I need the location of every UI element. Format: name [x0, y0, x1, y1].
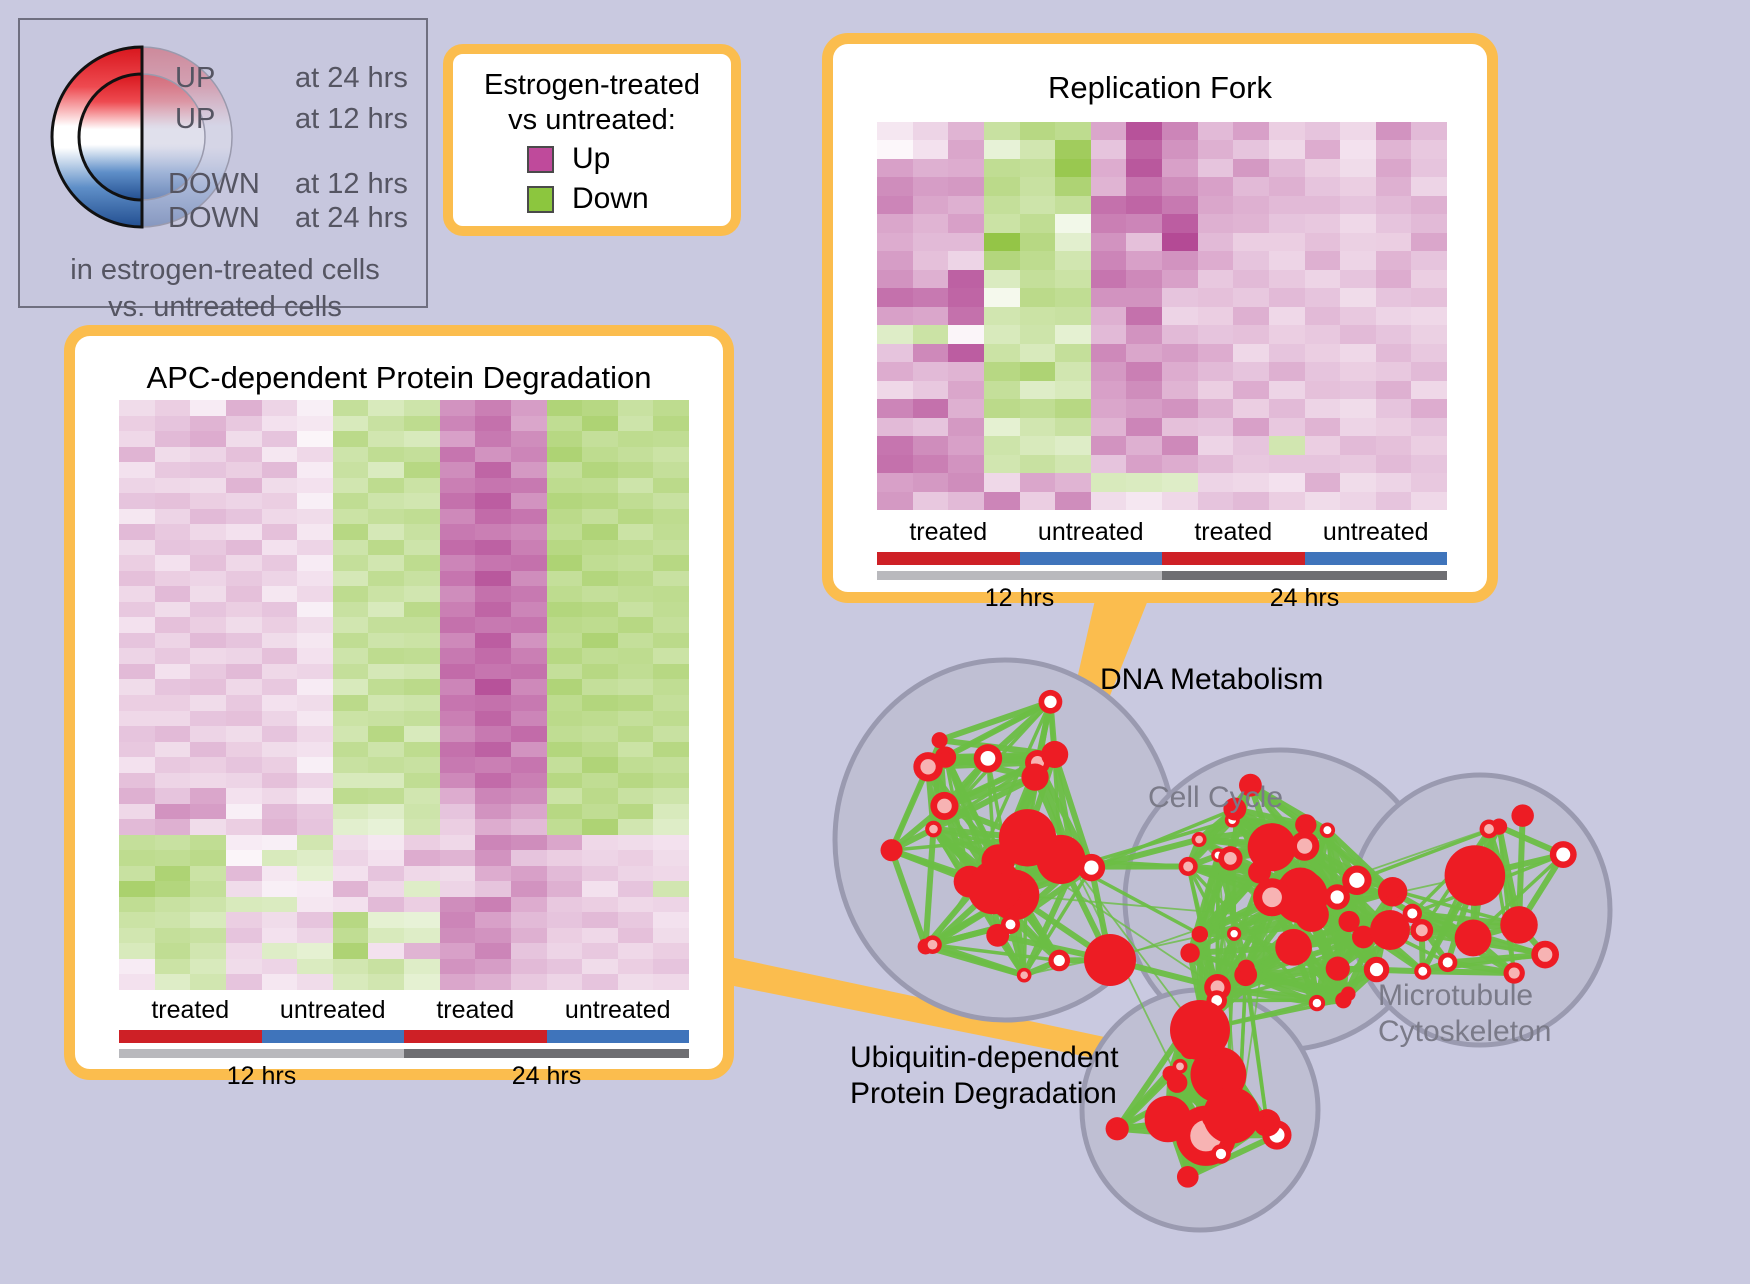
group-label: treated	[877, 518, 1020, 547]
heatmap-cell	[475, 416, 511, 432]
heatmap-cell	[190, 726, 226, 742]
heatmap-cell	[119, 943, 155, 959]
heatmap-cell	[368, 586, 404, 602]
heatmap-cell	[440, 400, 476, 416]
network-node[interactable]	[1203, 1087, 1260, 1144]
network-node[interactable]	[1438, 953, 1457, 972]
heatmap-cell	[1376, 140, 1412, 158]
heatmap-cell	[547, 431, 583, 447]
network-node[interactable]	[1036, 835, 1085, 884]
heatmap-cell	[1198, 381, 1234, 399]
heatmap-cell	[653, 586, 689, 602]
heatmap-cell	[547, 695, 583, 711]
network-node[interactable]	[1163, 1066, 1179, 1082]
heatmap-cell	[511, 742, 547, 758]
node-core	[1500, 906, 1538, 944]
network-node[interactable]	[1211, 1144, 1231, 1164]
heatmap-cell	[155, 400, 191, 416]
heatmap-cell	[404, 897, 440, 913]
heatmap-cell	[368, 866, 404, 882]
network-node[interactable]	[1048, 950, 1070, 972]
heatmap-cell	[511, 648, 547, 664]
heatmap-cell	[1020, 214, 1056, 232]
heatmap-cell	[404, 788, 440, 804]
network-node[interactable]	[913, 752, 942, 781]
heatmap-cell	[297, 881, 333, 897]
heatmap-cell	[984, 418, 1020, 436]
heatmap-cell	[368, 540, 404, 556]
color-key-title: Estrogen-treated vs untreated:	[453, 68, 731, 138]
heatmap-cell	[877, 381, 913, 399]
heatmap-cell	[618, 555, 654, 571]
heatmap-cell	[440, 943, 476, 959]
heatmap-cell	[582, 524, 618, 540]
heatmap-cell	[582, 819, 618, 835]
heatmap-cell	[404, 602, 440, 618]
heatmap-cell	[1126, 288, 1162, 306]
heatmap-cell	[1162, 140, 1198, 158]
heatmap-cell	[1055, 214, 1091, 232]
heatmap-cell	[190, 897, 226, 913]
heatmap-cell	[1020, 140, 1056, 158]
network-node[interactable]	[1177, 1166, 1199, 1188]
heatmap-cell	[404, 679, 440, 695]
legend-down-12-label: DOWN	[168, 168, 260, 201]
heatmap-cell	[618, 726, 654, 742]
network-node[interactable]	[1445, 845, 1506, 906]
heatmap-cell	[475, 431, 511, 447]
heatmap-cell	[913, 455, 949, 473]
heatmap-cell	[119, 633, 155, 649]
heatmap-cell	[1376, 381, 1412, 399]
heatmap-cell	[262, 742, 298, 758]
node-core	[1297, 838, 1312, 853]
node-core	[1300, 819, 1311, 830]
microtubule-line2: Cytoskeleton	[1378, 1014, 1551, 1050]
heatmap-cell	[297, 602, 333, 618]
heatmap-cell	[1233, 473, 1269, 491]
heatmap-cell	[1305, 214, 1341, 232]
heatmap-cell	[1305, 288, 1341, 306]
heatmap-cell	[226, 478, 262, 494]
network-node[interactable]	[1179, 857, 1198, 876]
heatmap-cell	[475, 571, 511, 587]
network-node[interactable]	[1106, 1117, 1129, 1140]
heatmap-cell	[1376, 344, 1412, 362]
legend-up-24-label: UP	[175, 62, 215, 95]
network-node[interactable]	[1145, 1096, 1192, 1143]
heatmap-cell	[262, 711, 298, 727]
heatmap-cell	[511, 819, 547, 835]
heatmap-cell	[475, 633, 511, 649]
heatmap-cell	[404, 617, 440, 633]
heatmap-cell	[1020, 436, 1056, 454]
network-node[interactable]	[1021, 764, 1048, 791]
network-node[interactable]	[1001, 915, 1020, 934]
heatmap-cell	[1091, 492, 1127, 510]
heatmap-cell	[1269, 418, 1305, 436]
network-node[interactable]	[1227, 927, 1241, 941]
heatmap-cell	[582, 804, 618, 820]
heatmap-cell	[1020, 251, 1056, 269]
heatmap-cell	[582, 866, 618, 882]
heatmap-cell	[582, 943, 618, 959]
heatmap-cell	[582, 757, 618, 773]
heatmap-cell	[262, 633, 298, 649]
ubiquitin-line1: Ubiquitin-dependent	[850, 1040, 1119, 1076]
heatmap-cell	[582, 602, 618, 618]
heatmap-cell	[1305, 196, 1341, 214]
heatmap-cell	[582, 633, 618, 649]
heatmap-cell	[1411, 307, 1447, 325]
heatmap-cell	[1411, 381, 1447, 399]
network-node[interactable]	[881, 839, 903, 861]
heatmap-cell	[368, 648, 404, 664]
heatmap-cell	[511, 711, 547, 727]
heatmap-cell	[155, 586, 191, 602]
network-node[interactable]	[1326, 957, 1350, 981]
heatmap-cell	[618, 617, 654, 633]
heatmap-cell	[913, 196, 949, 214]
heatmap-cell	[226, 664, 262, 680]
network-node[interactable]	[1531, 941, 1559, 969]
heatmap-cell	[155, 819, 191, 835]
heatmap-cell	[440, 617, 476, 633]
heatmap-cell	[155, 804, 191, 820]
heatmap-cell	[404, 431, 440, 447]
heatmap-cell	[984, 325, 1020, 343]
heatmap-cell	[877, 362, 913, 380]
heatmap-cell	[1233, 214, 1269, 232]
heatmap-cell	[190, 431, 226, 447]
heatmap-cell	[618, 897, 654, 913]
heatmap-cell	[404, 509, 440, 525]
network-node[interactable]	[1170, 1000, 1230, 1060]
heatmap-cell	[1055, 436, 1091, 454]
heatmap-cell	[1411, 418, 1447, 436]
network-node[interactable]	[1253, 878, 1291, 916]
network-node[interactable]	[1017, 968, 1032, 983]
heatmap-cell	[155, 648, 191, 664]
heatmap-cell	[190, 804, 226, 820]
heatmap-cell	[333, 943, 369, 959]
up-swatch-icon	[527, 146, 554, 173]
heatmap-cell	[511, 726, 547, 742]
heatmap-cell	[1305, 325, 1341, 343]
network-node[interactable]	[1309, 995, 1325, 1011]
heatmap-cell	[948, 362, 984, 380]
heatmap-cell	[119, 974, 155, 990]
heatmap-cell	[1305, 122, 1341, 140]
network-node[interactable]	[1378, 877, 1407, 906]
node-core	[1021, 764, 1048, 791]
heatmap-cell	[297, 943, 333, 959]
network-node[interactable]	[1338, 911, 1359, 932]
heatmap-cell	[1091, 270, 1127, 288]
heatmap-cell	[913, 362, 949, 380]
heatmap-cell	[297, 711, 333, 727]
heatmap-cell	[404, 850, 440, 866]
network-node[interactable]	[1511, 804, 1533, 826]
node-core	[881, 839, 903, 861]
heatmap-cell	[653, 416, 689, 432]
heatmap-cell	[119, 602, 155, 618]
network-node[interactable]	[1550, 841, 1577, 868]
heatmap-cell	[653, 447, 689, 463]
network-node[interactable]	[1180, 943, 1199, 962]
heatmap-cell	[404, 943, 440, 959]
heatmap-cell	[297, 509, 333, 525]
apc-degradation-heatmap	[119, 400, 689, 990]
heatmap-cell	[511, 524, 547, 540]
heatmap-cell	[1126, 399, 1162, 417]
network-node[interactable]	[1500, 906, 1538, 944]
heatmap-cell	[1376, 307, 1412, 325]
heatmap-cell	[333, 804, 369, 820]
heatmap-cell	[1305, 436, 1341, 454]
heatmap-cell	[262, 773, 298, 789]
heatmap-cell	[618, 462, 654, 478]
heatmap-cell	[618, 773, 654, 789]
heatmap-cell	[547, 974, 583, 990]
network-node[interactable]	[1041, 741, 1068, 768]
heatmap-cell	[1269, 288, 1305, 306]
heatmap-cell	[1233, 251, 1269, 269]
heatmap-cell	[1340, 307, 1376, 325]
heatmap-cell	[1091, 455, 1127, 473]
heatmap-cell	[1020, 473, 1056, 491]
heatmap-cell	[1055, 233, 1091, 251]
network-node[interactable]	[1480, 820, 1499, 839]
heatmap-cell	[1091, 418, 1127, 436]
network-node[interactable]	[1275, 929, 1312, 966]
network-node[interactable]	[932, 732, 948, 748]
color-key-item-up: Up	[527, 142, 610, 176]
heatmap-cell	[511, 881, 547, 897]
heatmap-cell	[653, 617, 689, 633]
heatmap-cell	[333, 726, 369, 742]
network-node[interactable]	[1039, 690, 1063, 714]
heatmap-cell	[1055, 251, 1091, 269]
heatmap-cell	[190, 959, 226, 975]
network-node[interactable]	[970, 860, 1022, 912]
heatmap-cell	[511, 943, 547, 959]
network-node[interactable]	[1455, 920, 1492, 957]
network-node[interactable]	[1410, 919, 1433, 942]
heatmap-cell	[1269, 159, 1305, 177]
heatmap-cell	[653, 959, 689, 975]
heatmap-cell	[1269, 214, 1305, 232]
network-node[interactable]	[1295, 898, 1329, 932]
heatmap-cell	[333, 974, 369, 990]
heatmap-cell	[440, 664, 476, 680]
heatmap-cell	[1198, 344, 1234, 362]
heatmap-cell	[511, 959, 547, 975]
heatmap-cell	[1233, 140, 1269, 158]
heatmap-cell	[511, 804, 547, 820]
heatmap-cell	[1198, 399, 1234, 417]
heatmap-cell	[1020, 381, 1056, 399]
heatmap-cell	[333, 742, 369, 758]
heatmap-cell	[1055, 196, 1091, 214]
heatmap-cell	[119, 757, 155, 773]
heatmap-cell	[547, 571, 583, 587]
network-node[interactable]	[1084, 934, 1136, 986]
heatmap-cell	[475, 912, 511, 928]
heatmap-cell	[440, 633, 476, 649]
heatmap-cell	[190, 617, 226, 633]
heatmap-cell	[404, 757, 440, 773]
network-node[interactable]	[1342, 866, 1371, 895]
heatmap-cell	[155, 959, 191, 975]
heatmap-cell	[1126, 344, 1162, 362]
node-core	[1084, 934, 1136, 986]
heatmap-cell	[155, 912, 191, 928]
heatmap-cell	[511, 431, 547, 447]
replication-fork-time-bars	[877, 571, 1447, 580]
heatmap-cell	[190, 555, 226, 571]
group-color-bar	[877, 552, 1020, 565]
network-node[interactable]	[1192, 926, 1208, 942]
heatmap-cell	[547, 493, 583, 509]
heatmap-cell	[547, 524, 583, 540]
group-label: untreated	[547, 996, 690, 1025]
network-node[interactable]	[923, 935, 942, 954]
cluster-label-microtubule: Microtubule Cytoskeleton	[1378, 978, 1551, 1050]
heatmap-cell	[226, 571, 262, 587]
heatmap-cell	[1376, 325, 1412, 343]
heatmap-cell	[1411, 492, 1447, 510]
heatmap-cell	[262, 866, 298, 882]
heatmap-cell	[119, 881, 155, 897]
heatmap-cell	[1376, 418, 1412, 436]
heatmap-cell	[440, 974, 476, 990]
heatmap-cell	[155, 742, 191, 758]
heatmap-cell	[297, 959, 333, 975]
heatmap-cell	[262, 602, 298, 618]
heatmap-cell	[1055, 140, 1091, 158]
network-node[interactable]	[1192, 832, 1207, 847]
heatmap-cell	[1233, 288, 1269, 306]
heatmap-cell	[1233, 196, 1269, 214]
network-node[interactable]	[1320, 822, 1335, 837]
heatmap-cell	[297, 974, 333, 990]
heatmap-cell	[262, 757, 298, 773]
node-core	[1484, 824, 1494, 834]
heatmap-cell	[653, 633, 689, 649]
heatmap-cell	[404, 524, 440, 540]
heatmap-cell	[511, 679, 547, 695]
heatmap-cell	[404, 400, 440, 416]
heatmap-cell	[297, 757, 333, 773]
heatmap-cell	[262, 912, 298, 928]
heatmap-cell	[618, 602, 654, 618]
network-node[interactable]	[1295, 814, 1316, 835]
network-node[interactable]	[974, 744, 1003, 773]
heatmap-cell	[262, 586, 298, 602]
heatmap-cell	[190, 571, 226, 587]
heatmap-cell	[297, 773, 333, 789]
heatmap-cell	[1269, 381, 1305, 399]
heatmap-cell	[155, 773, 191, 789]
heatmap-cell	[333, 928, 369, 944]
heatmap-cell	[653, 788, 689, 804]
heatmap-cell	[511, 974, 547, 990]
heatmap-cell	[119, 416, 155, 432]
heatmap-cell	[368, 881, 404, 897]
heatmap-cell	[190, 866, 226, 882]
heatmap-cell	[1126, 325, 1162, 343]
heatmap-cell	[582, 571, 618, 587]
heatmap-cell	[226, 524, 262, 540]
heatmap-cell	[1091, 159, 1127, 177]
network-node[interactable]	[1370, 910, 1410, 950]
heatmap-cell	[226, 773, 262, 789]
heatmap-cell	[440, 881, 476, 897]
heatmap-cell	[1269, 122, 1305, 140]
heatmap-cell	[190, 540, 226, 556]
heatmap-cell	[226, 711, 262, 727]
heatmap-cell	[582, 509, 618, 525]
network-node[interactable]	[1290, 831, 1319, 860]
heatmap-cell	[440, 447, 476, 463]
heatmap-cell	[618, 478, 654, 494]
heatmap-cell	[582, 555, 618, 571]
heatmap-cell	[582, 726, 618, 742]
heatmap-cell	[547, 819, 583, 835]
heatmap-cell	[262, 881, 298, 897]
network-node[interactable]	[930, 792, 958, 820]
heatmap-cell	[333, 912, 369, 928]
heatmap-cell	[440, 586, 476, 602]
heatmap-cell	[547, 540, 583, 556]
heatmap-cell	[1269, 436, 1305, 454]
heatmap-cell	[119, 819, 155, 835]
network-node[interactable]	[1218, 846, 1242, 870]
network-node[interactable]	[1234, 963, 1257, 986]
heatmap-cell	[582, 617, 618, 633]
heatmap-cell	[1376, 288, 1412, 306]
heatmap-cell	[511, 571, 547, 587]
heatmap-cell	[1162, 436, 1198, 454]
group-color-bar	[404, 1030, 547, 1043]
heatmap-cell	[226, 850, 262, 866]
heatmap-cell	[547, 726, 583, 742]
heatmap-cell	[262, 431, 298, 447]
group-label: treated	[404, 996, 547, 1025]
node-core	[1176, 1062, 1184, 1070]
node-core	[1385, 884, 1400, 899]
heatmap-cell	[226, 695, 262, 711]
heatmap-cell	[1340, 362, 1376, 380]
heatmap-cell	[440, 524, 476, 540]
heatmap-cell	[547, 586, 583, 602]
heatmap-cell	[155, 416, 191, 432]
replication-fork-title: Replication Fork	[833, 70, 1487, 106]
heatmap-cell	[913, 307, 949, 325]
heatmap-cell	[653, 695, 689, 711]
heatmap-cell	[333, 711, 369, 727]
heatmap-cell	[333, 850, 369, 866]
heatmap-cell	[404, 648, 440, 664]
network-node[interactable]	[1335, 992, 1351, 1008]
network-node[interactable]	[1248, 823, 1296, 871]
replication-fork-panel: Replication Fork treateduntreatedtreated…	[822, 33, 1498, 603]
heatmap-cell	[226, 819, 262, 835]
heatmap-cell	[190, 400, 226, 416]
network-node[interactable]	[925, 821, 942, 838]
heatmap-cell	[440, 509, 476, 525]
